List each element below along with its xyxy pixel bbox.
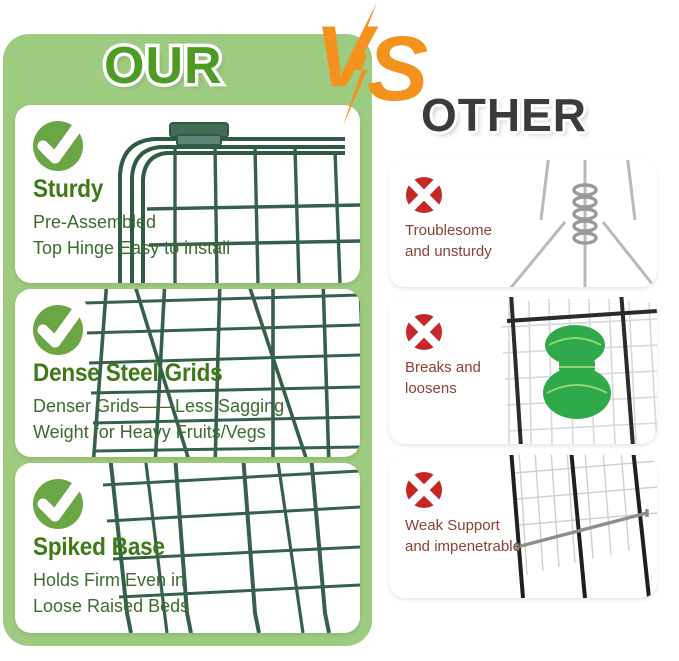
card-body-line: loosens [405,378,481,399]
our-feature-card: Dense Steel Grids Denser Grids——Less Sag… [15,289,360,457]
card-headline: Dense Steel Grids [33,359,259,388]
other-feature-card: Troublesome and unsturdy [389,160,657,287]
card-headline: Spiked Base [33,533,173,562]
card-text-block: Troublesome and unsturdy [403,174,492,263]
card-body-line: and impenetrable [405,536,521,557]
other-feature-card: Breaks and loosens [389,297,657,444]
green-check-icon [31,299,89,357]
green-check-icon [31,473,89,531]
card-text-block: Spiked Base Holds Firm Even in Loose Rai… [31,473,189,619]
green-check-icon [31,115,89,173]
card-body-line: Top Hinge Easy to install [33,236,230,262]
card-text-block: Dense Steel Grids Denser Grids——Less Sag… [31,299,284,445]
card-body-line: Weak Support [405,515,521,536]
red-x-icon [403,469,445,511]
card-body-line: Troublesome [405,220,492,241]
other-panel-title: OTHER [421,88,587,142]
card-headline: Sturdy [33,175,210,204]
other-feature-card: Weak Support and impenetrable [389,455,657,598]
card-body-line: Loose Raised Beds [33,594,189,620]
card-body-line: Denser Grids——Less Sagging [33,394,284,420]
red-x-icon [403,174,445,216]
card-body-line: Breaks and [405,357,481,378]
card-body-line: Holds Firm Even in [33,568,189,594]
card-text-block: Sturdy Pre-Assembled Top Hinge Easy to i… [31,115,230,261]
card-text-block: Breaks and loosens [403,311,481,400]
our-feature-card: Spiked Base Holds Firm Even in Loose Rai… [15,463,360,633]
red-x-icon [403,311,445,353]
card-body-line: Weight for Heavy Fruits/Vegs [33,420,284,446]
card-body-line: and unsturdy [405,241,492,262]
card-text-block: Weak Support and impenetrable [403,469,521,558]
our-feature-card: Sturdy Pre-Assembled Top Hinge Easy to i… [15,105,360,283]
our-panel-title: OUR [104,36,223,96]
card-body-line: Pre-Assembled [33,210,230,236]
svg-text:S: S [367,18,428,120]
